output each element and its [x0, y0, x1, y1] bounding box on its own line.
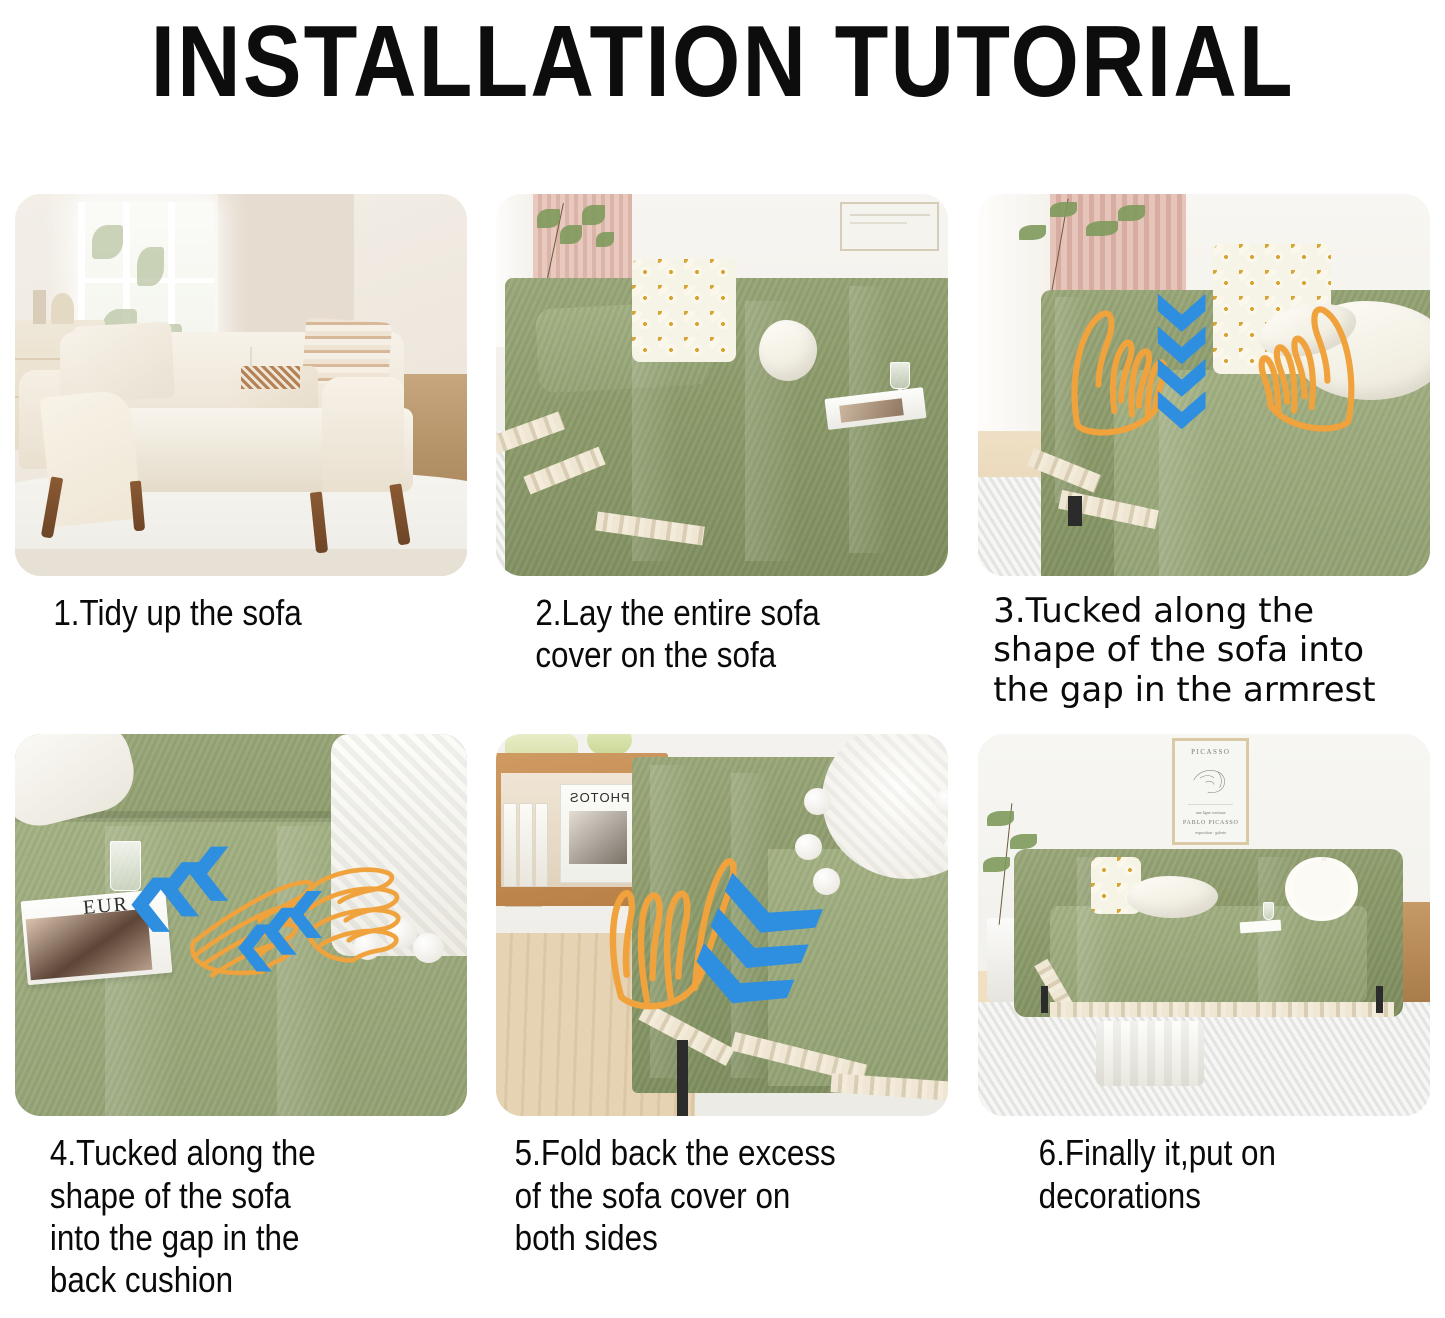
step-3-caption: 3.Tucked along the shape of the sofa int…: [963, 592, 1445, 710]
picasso-poster: PICASSO une ligne continue PABLO PICASSO…: [1172, 738, 1249, 845]
step-5-caption: 5.Fold back the excess of the sofa cover…: [482, 1132, 896, 1259]
step-4-caption: 4.Tucked along the shape of the sofa int…: [0, 1132, 414, 1301]
down-right-arrows-icon: [695, 872, 822, 1025]
area-rug: [978, 1002, 1430, 1117]
flower-pillow: [1285, 857, 1357, 922]
page-header: INSTALLATION TUTORIAL: [0, 0, 1445, 118]
step-5-photo: PHOTOS: [496, 734, 948, 1116]
tutorial-steps-grid: 1.Tidy up the sofa: [0, 118, 1445, 1302]
steps-row-bottom: EUR: [0, 710, 1445, 1301]
step-card-2: 2.Lay the entire sofa cover on the sofa: [482, 118, 964, 710]
drinking-glass: [1263, 902, 1275, 919]
step-6-caption: 6.Finally it,put on decorations: [963, 1132, 1377, 1217]
left-arrows-icon: [223, 879, 341, 994]
step-2-photo: [496, 194, 948, 576]
step-3-photo: [978, 194, 1430, 576]
framed-art: [840, 202, 939, 252]
poster-subheading: PABLO PICASSO: [1175, 820, 1246, 826]
step-4-photo: EUR: [15, 734, 467, 1116]
drinking-glass: [890, 362, 910, 389]
down-arrows-icon: [1141, 286, 1222, 439]
step-card-6: PICASSO une ligne continue PABLO PICASSO…: [963, 710, 1445, 1301]
poster-body-1: une ligne continue: [1175, 810, 1246, 815]
step-2-caption: 2.Lay the entire sofa cover on the sofa: [482, 592, 896, 677]
step-1-caption: 1.Tidy up the sofa: [0, 592, 414, 634]
step-card-4: EUR: [0, 710, 482, 1301]
step-card-5: PHOTOS: [482, 710, 964, 1301]
poster-heading: PICASSO: [1175, 748, 1246, 756]
step-card-1: 1.Tidy up the sofa: [0, 118, 482, 710]
floor-cushion: [1096, 1021, 1204, 1086]
page-title: INSTALLATION TUTORIAL: [150, 3, 1294, 120]
daisy-pillow: [632, 259, 736, 362]
poster-body-2: exposition · galerie: [1175, 830, 1246, 835]
knot-pillow: [1127, 876, 1217, 918]
step-1-photo: [15, 194, 467, 576]
steps-row-top: 1.Tidy up the sofa: [0, 118, 1445, 710]
step-6-photo: PICASSO une ligne continue PABLO PICASSO…: [978, 734, 1430, 1116]
step-card-3: 3.Tucked along the shape of the sofa int…: [963, 118, 1445, 710]
line-art-face-icon: [1184, 759, 1238, 801]
